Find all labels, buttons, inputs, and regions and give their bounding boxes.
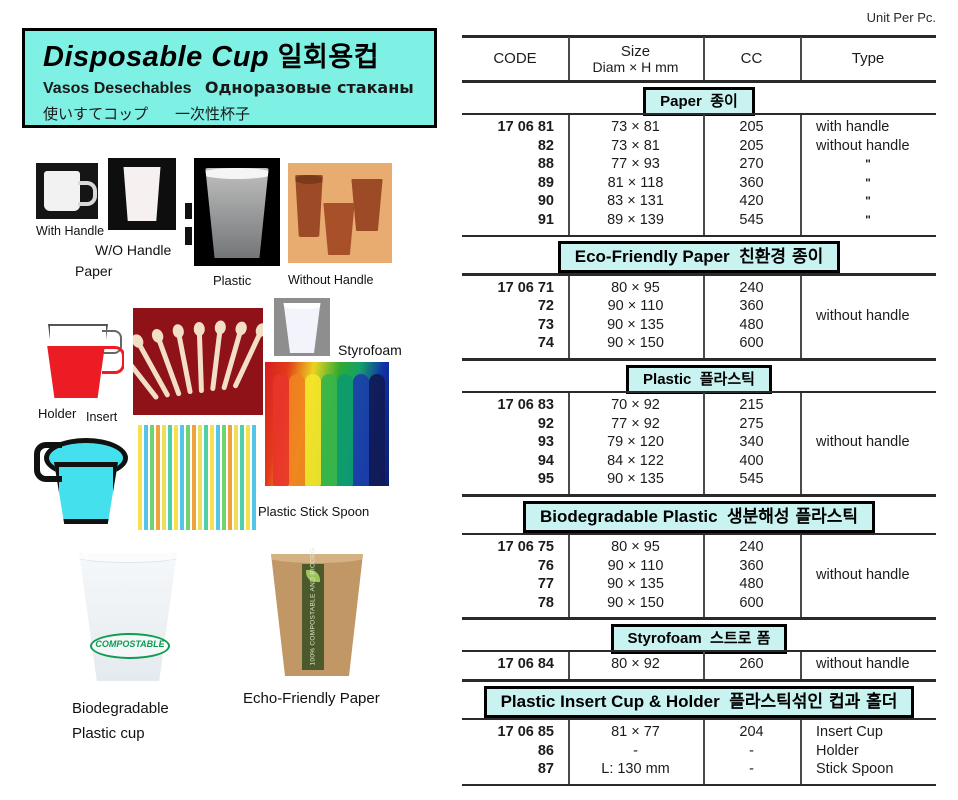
section-title-en: Biodegradable Plastic	[540, 507, 718, 526]
caption-paper: Paper	[75, 263, 112, 279]
section-header-1: Eco-Friendly Paper 친환경 종이	[462, 241, 936, 273]
section-title-kr: 스트로 폼	[710, 629, 770, 647]
cell-code: 92	[462, 416, 568, 432]
table-column-divider	[800, 720, 802, 784]
cell-cc: 480	[703, 576, 800, 592]
cell-cc: 215	[703, 397, 800, 413]
title-box: Disposable Cup 일회용컵 Vasos Desechables Од…	[22, 28, 437, 128]
section-title-kr: 친환경 종이	[739, 247, 823, 267]
page-title: Disposable Cup 일회용컵	[43, 35, 379, 74]
table-column-divider	[568, 37, 570, 80]
cell-size: 80 × 95	[568, 280, 703, 296]
cell-cc: 360	[703, 558, 800, 574]
cell-code: 94	[462, 453, 568, 469]
cell-size: 80 × 92	[568, 656, 703, 672]
caption-holder: Holder	[38, 406, 76, 421]
cell-code: 87	[462, 761, 568, 777]
stick-spoon-shape	[337, 374, 353, 486]
left-illustration-panel: Disposable Cup 일회용컵 Vasos Desechables Од…	[0, 0, 455, 800]
cell-size: 90 × 150	[568, 595, 703, 611]
photo-plastic-cup	[194, 158, 280, 266]
table-column-divider	[703, 393, 705, 494]
cell-cc: -	[703, 761, 800, 777]
cell-cc: 360	[703, 298, 800, 314]
cell-size: 90 × 110	[568, 558, 703, 574]
table-header-cc: CC	[703, 37, 800, 82]
cell-type-merged: without handle	[800, 567, 936, 583]
table-rule	[462, 650, 936, 653]
cell-code: 73	[462, 317, 568, 333]
stick-spoon-shape	[305, 374, 321, 486]
table-column-divider	[800, 535, 802, 617]
section-title-en: Plastic Insert Cup & Holder	[501, 692, 720, 711]
spoon-shape	[210, 329, 223, 391]
title-chinese: 一次性杯子	[175, 105, 250, 123]
cell-cc: 240	[703, 280, 800, 296]
caption-wo-handle: W/O Handle	[95, 242, 171, 258]
photo-stick-spoons	[133, 308, 263, 415]
photo-paper-cup-without-handle	[108, 158, 176, 230]
cell-code: 17 06 81	[462, 119, 568, 135]
cell-type-merged: without handle	[800, 434, 936, 450]
title-japanese: 使いすてコップ	[43, 105, 148, 123]
table-column-divider	[568, 720, 570, 784]
title-korean: 일회용컵	[278, 42, 379, 73]
section-title-en: Plastic	[643, 371, 691, 388]
cell-size: 77 × 93	[568, 156, 703, 172]
cell-code: 95	[462, 471, 568, 487]
photo-biodegradable-plastic-cup: COMPOSTABLE	[60, 545, 196, 685]
cell-code: 78	[462, 595, 568, 611]
cell-code: 89	[462, 175, 568, 191]
cell-type: Insert Cup	[800, 724, 936, 740]
cell-code: 72	[462, 298, 568, 314]
spoon-shape	[197, 330, 204, 392]
cell-code: 90	[462, 193, 568, 209]
section-title-kr: 종이	[710, 92, 738, 110]
cell-cc: 545	[703, 212, 800, 228]
cell-cc: 480	[703, 317, 800, 333]
cell-size: 90 × 110	[568, 298, 703, 314]
stick-spoon-shape	[273, 374, 289, 486]
cell-code: 17 06 71	[462, 280, 568, 296]
cell-code: 93	[462, 434, 568, 450]
cell-type: Stick Spoon	[800, 761, 936, 777]
cell-code: 17 06 75	[462, 539, 568, 555]
section-title-kr: 플라스틱	[700, 370, 755, 388]
cell-code: 17 06 84	[462, 656, 568, 672]
cell-type: Holder	[800, 743, 936, 759]
section-header-5: Plastic Insert Cup & Holder 플라스틱섞인 컵과 홀더	[462, 686, 936, 718]
cell-cc: 240	[703, 539, 800, 555]
cell-type: without handle	[800, 138, 936, 154]
table-rule	[462, 273, 936, 276]
section-title-en: Styrofoam	[628, 630, 702, 647]
spoon-shape	[176, 333, 193, 395]
photo-styrofoam-cup	[274, 298, 330, 356]
cell-type-ditto: "	[800, 157, 936, 171]
photo-colored-stick-spoons	[265, 362, 389, 486]
cell-size: 77 × 92	[568, 416, 703, 432]
section-title-kr: 플라스틱섞인 컵과 홀더	[729, 692, 897, 712]
table-column-divider	[568, 276, 570, 358]
cell-code: 17 06 83	[462, 397, 568, 413]
caption-insert: Insert	[86, 410, 117, 424]
table-header-size: SizeDiam × H mm	[568, 37, 703, 82]
caption-biodegradable-line1: Biodegradable	[72, 700, 169, 717]
caption-with-handle: With Handle	[36, 224, 104, 238]
cell-code: 82	[462, 138, 568, 154]
cell-size: 84 × 122	[568, 453, 703, 469]
cell-size: 79 × 120	[568, 434, 703, 450]
photo-brown-cups-without-handle	[288, 163, 392, 263]
table-rule	[462, 679, 936, 682]
stick-spoon-shape	[353, 374, 369, 486]
cell-size: 81 × 118	[568, 175, 703, 191]
title-russian: Одноразовые стаканы	[205, 78, 414, 97]
photo-plastic-straws	[138, 425, 258, 530]
table-column-divider	[703, 720, 705, 784]
cell-cc: 270	[703, 156, 800, 172]
caption-styrofoam: Styrofoam	[338, 342, 402, 358]
table-column-divider	[703, 276, 705, 358]
section-title-en: Paper	[660, 93, 702, 110]
photo-insert-cup	[30, 432, 138, 530]
title-english: Disposable Cup	[43, 41, 269, 73]
table-rule	[462, 235, 936, 238]
cell-cc: 600	[703, 335, 800, 351]
table-column-divider	[800, 393, 802, 494]
cell-cc: 340	[703, 434, 800, 450]
table-rule	[462, 494, 936, 497]
cell-size: 90 × 135	[568, 471, 703, 487]
section-title-kr: 생분해성 플라스틱	[727, 507, 858, 527]
title-subtitle-row2: 使いすてコップ 一次性杯子	[43, 103, 250, 124]
cell-size: -	[568, 743, 703, 759]
cell-size: 90 × 150	[568, 335, 703, 351]
cell-type-merged: without handle	[800, 308, 936, 324]
cell-size: 73 × 81	[568, 119, 703, 135]
cell-size: 70 × 92	[568, 397, 703, 413]
cell-code: 17 06 85	[462, 724, 568, 740]
bio-label-text: COMPOSTABLE	[92, 639, 168, 649]
cell-size: 89 × 139	[568, 212, 703, 228]
table-column-divider	[800, 115, 802, 235]
section-title-en: Eco-Friendly Paper	[575, 247, 730, 266]
table-rule	[462, 358, 936, 361]
table-column-divider	[703, 115, 705, 235]
cell-code: 91	[462, 212, 568, 228]
cell-size: 80 × 95	[568, 539, 703, 555]
table-rule	[462, 784, 936, 787]
cell-cc: 420	[703, 193, 800, 209]
cell-code: 74	[462, 335, 568, 351]
cell-cc: 204	[703, 724, 800, 740]
cell-cc: 205	[703, 119, 800, 135]
cell-cc: 600	[703, 595, 800, 611]
cell-cc: -	[703, 743, 800, 759]
table-column-divider	[800, 37, 802, 80]
table-rule	[462, 617, 936, 620]
cell-cc: 205	[703, 138, 800, 154]
barcode-marks	[185, 203, 192, 247]
eco-band-text: 100% COMPOSTABLE AND BIODEGRADABLE	[310, 566, 317, 666]
section-header-3: Biodegradable Plastic 생분해성 플라스틱	[462, 501, 936, 533]
table-rule	[462, 533, 936, 536]
caption-without-handle: Without Handle	[288, 273, 373, 287]
cell-code: 76	[462, 558, 568, 574]
cell-size: 83 × 131	[568, 193, 703, 209]
photo-holder-cup	[36, 318, 124, 400]
caption-plastic: Plastic	[213, 273, 251, 288]
cell-code: 77	[462, 576, 568, 592]
table-column-divider	[800, 276, 802, 358]
cell-type: with handle	[800, 119, 936, 135]
table-column-divider	[568, 393, 570, 494]
table-column-divider	[568, 535, 570, 617]
catalog-page: Disposable Cup 일회용컵 Vasos Desechables Од…	[0, 0, 958, 800]
cell-cc: 400	[703, 453, 800, 469]
table-column-divider	[703, 652, 705, 679]
cell-size: 73 × 81	[568, 138, 703, 154]
cell-cc: 545	[703, 471, 800, 487]
stick-spoon-shape	[369, 374, 385, 486]
table-rule	[462, 718, 936, 721]
caption-biodegradable-line2: Plastic cup	[72, 725, 145, 742]
title-subtitle-row1: Vasos Desechables Одноразовые стаканы	[43, 78, 414, 98]
table-column-divider	[703, 535, 705, 617]
section-title-box: Biodegradable Plastic 생분해성 플라스틱	[523, 501, 875, 533]
table-column-divider	[703, 37, 705, 80]
caption-plastic-stick-spoon: Plastic Stick Spoon	[258, 504, 369, 519]
cell-cc: 275	[703, 416, 800, 432]
table-column-divider	[568, 652, 570, 679]
photo-paper-cup-with-handle	[36, 163, 98, 219]
stick-spoon-shape	[289, 374, 305, 486]
section-title-box: Plastic Insert Cup & Holder 플라스틱섞인 컵과 홀더	[484, 686, 915, 718]
photo-eco-friendly-paper-cup: 100% COMPOSTABLE AND BIODEGRADABLE	[255, 548, 383, 680]
table-header-type: Type	[800, 37, 936, 82]
unit-per-pc-note: Unit Per Pc.	[867, 10, 936, 25]
cell-size: 90 × 135	[568, 576, 703, 592]
cell-cc: 360	[703, 175, 800, 191]
cell-code: 88	[462, 156, 568, 172]
table-column-divider	[800, 652, 802, 679]
cell-size: L: 130 mm	[568, 761, 703, 777]
cell-type-ditto: "	[800, 176, 936, 190]
cell-type-ditto: "	[800, 194, 936, 208]
stick-spoon-shape	[321, 374, 337, 486]
cell-size: 90 × 135	[568, 317, 703, 333]
cell-size: 81 × 77	[568, 724, 703, 740]
section-title-box: Eco-Friendly Paper 친환경 종이	[558, 241, 841, 273]
caption-echo-friendly-paper: Echo-Friendly Paper	[243, 690, 380, 707]
table-rule	[462, 391, 936, 394]
cell-type: without handle	[800, 656, 936, 672]
table-column-divider	[568, 115, 570, 235]
table-header-code: CODE	[462, 37, 568, 82]
table-rule	[462, 113, 936, 116]
title-spanish: Vasos Desechables	[43, 80, 192, 97]
table-rule	[462, 80, 936, 83]
cell-cc: 260	[703, 656, 800, 672]
cell-type-ditto: "	[800, 213, 936, 227]
cell-code: 86	[462, 743, 568, 759]
